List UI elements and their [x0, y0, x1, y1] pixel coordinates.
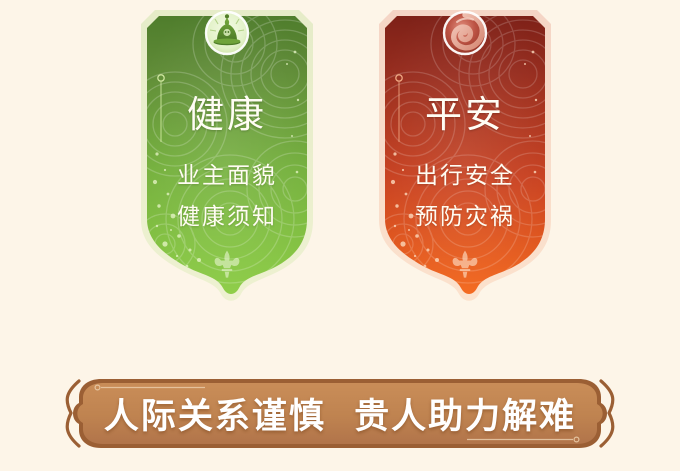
banner-plate: [77, 383, 602, 444]
poster-stage: 健康 业主面貌 健康须知: [0, 0, 680, 471]
card-health[interactable]: 健康 业主面貌 健康须知: [147, 16, 307, 288]
bottom-banner[interactable]: 人际关系谨慎 贵人助力解难: [57, 377, 623, 450]
bell-buddha-emblem: [199, 6, 255, 62]
spiral-swirl-emblem: [437, 6, 493, 62]
card-safety[interactable]: 平安 出行安全 预防灾祸: [385, 16, 545, 288]
bottom-banner-shape: [57, 377, 623, 450]
